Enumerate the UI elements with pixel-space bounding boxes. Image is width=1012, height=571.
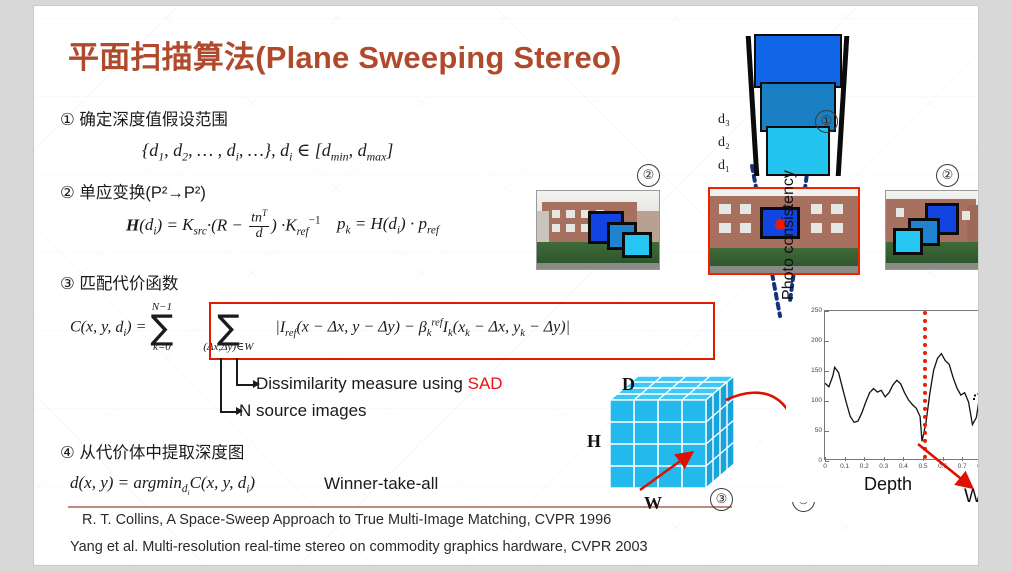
page-title: 平面扫描算法(Plane Sweeping Stereo) xyxy=(68,32,622,77)
depth-label-d1: d₁ xyxy=(718,158,730,174)
plot-axes: 050100150200250 00.10.20.30.40.50.60.70.… xyxy=(824,310,978,460)
patch-plane-1 xyxy=(893,228,922,255)
plot-y-tick: 50 xyxy=(804,427,822,434)
formula-depth-set: {d1, d2, … , di, …}, di ∈ [dmin, dmax] xyxy=(142,140,393,165)
annotation-sad: SAD xyxy=(468,374,503,393)
step-3-label: 匹配代价函数 xyxy=(79,275,178,293)
cost-function-highlight-box xyxy=(209,302,715,360)
window xyxy=(566,210,575,218)
plot-x-tick: 0.1 xyxy=(837,463,853,470)
winner-marker-line xyxy=(923,311,927,459)
step-4-label: 从代价体中提取深度图 xyxy=(79,444,244,462)
walkway xyxy=(886,263,978,269)
plot-y-tick-mark xyxy=(825,401,829,402)
source-image-right xyxy=(885,190,978,270)
cube-axis-depth: D xyxy=(622,374,635,395)
marker-circle-2-left: ② xyxy=(637,164,660,187)
plot-y-tick: 150 xyxy=(804,367,822,374)
step-2-label: 单应变换(P²→P²) xyxy=(79,184,206,202)
marker-circle-2-right: ② xyxy=(936,164,959,187)
plot-x-axis-label: Depth xyxy=(864,474,912,495)
plane-sweep-stack xyxy=(744,34,854,174)
window xyxy=(552,210,561,218)
reference-divider xyxy=(68,506,732,508)
plot-x-tick: 0.3 xyxy=(876,463,892,470)
plot-y-tick: 250 xyxy=(804,307,822,314)
depth-plane-3 xyxy=(754,34,842,88)
plot-y-tick: 200 xyxy=(804,337,822,344)
plot-y-tick-mark xyxy=(825,341,829,342)
step-4-marker: ④ xyxy=(60,444,75,462)
plot-curve xyxy=(825,311,978,459)
window xyxy=(811,223,823,233)
step-4-heading: ④ 从代价体中提取深度图 xyxy=(60,439,244,463)
plot-y-tick-mark xyxy=(825,461,829,462)
formula-homography: H(di) = Ksrc·(R − tnTd) ·Kref−1 xyxy=(126,210,321,243)
plot-x-tick-mark xyxy=(884,457,885,461)
reference-2: Yang et al. Multi-resolution real-time s… xyxy=(70,539,648,555)
window xyxy=(811,204,823,214)
step-1-marker: ① xyxy=(60,111,75,129)
plot-y-tick-mark xyxy=(825,371,829,372)
depth-label-d3: d₃ xyxy=(718,112,730,128)
photo-consistency-plot: Photo consistency Depth 050100150200250 … xyxy=(786,302,978,502)
annotation-winner-take-all: Winner-take-all xyxy=(324,474,438,494)
callout-elbow-sources xyxy=(220,358,239,413)
step-1-label: 确定深度值假设范围 xyxy=(79,111,228,129)
plot-x-tick-mark xyxy=(845,457,846,461)
window xyxy=(962,211,971,220)
plot-x-tick-mark xyxy=(864,457,865,461)
plot-y-tick-mark xyxy=(825,431,829,432)
walkway xyxy=(537,263,659,269)
reference-1: R. T. Collins, A Space-Sweep Approach to… xyxy=(82,512,611,528)
step-3-marker: ③ xyxy=(60,275,75,293)
marker-circle-1: ① xyxy=(815,110,838,133)
slide-canvas: 平面扫描算法(Plane Sweeping Stereo) ① 确定深度值假设范… xyxy=(34,6,978,565)
window xyxy=(552,224,561,232)
window xyxy=(831,223,843,233)
sum-outer: N−1 ∑ k=0 xyxy=(150,302,173,354)
annotation-dissimilarity-text: Dissimilarity measure using xyxy=(256,374,468,393)
window xyxy=(896,208,905,217)
move-cursor xyxy=(973,393,978,419)
plot-x-tick: 0.4 xyxy=(895,463,911,470)
formula-argmin: d(x, y) = argmindiC(x, y, di) xyxy=(70,473,255,498)
step-1-heading: ① 确定深度值假设范围 xyxy=(60,106,228,130)
plot-x-tick: 0.2 xyxy=(856,463,872,470)
window xyxy=(719,204,731,214)
depth-label-d2: d₂ xyxy=(718,135,730,151)
annotation-sources: N source images xyxy=(239,401,367,421)
cube-axis-height: H xyxy=(587,431,601,452)
plot-y-tick: 100 xyxy=(804,397,822,404)
formula-projection: pk = H(di) · pref xyxy=(337,214,439,236)
plot-x-tick-mark xyxy=(903,457,904,461)
window xyxy=(740,223,752,233)
step-3-heading: ③ 匹配代价函数 xyxy=(60,270,178,294)
plot-y-tick-mark xyxy=(825,311,829,312)
plot-x-tick-mark xyxy=(825,457,826,461)
plot-x-tick: 0 xyxy=(817,463,833,470)
step-2-heading: ② 单应变换(P²→P²) xyxy=(60,179,206,203)
cube-pointer-arrow xyxy=(634,446,714,506)
depth-plane-1 xyxy=(766,126,830,176)
source-image-left xyxy=(536,190,660,270)
window xyxy=(740,204,752,214)
plot-y-axis-label: Photo consistency xyxy=(780,160,796,310)
window xyxy=(566,224,575,232)
window xyxy=(831,204,843,214)
slide-viewer: 平面扫描算法(Plane Sweeping Stereo) ① 确定深度值假设范… xyxy=(0,0,1012,571)
annotation-dissimilarity: Dissimilarity measure using SAD xyxy=(256,374,503,394)
window xyxy=(719,223,731,233)
winner-arrow xyxy=(916,442,978,498)
patch-plane-1 xyxy=(622,232,651,259)
step-2-marker: ② xyxy=(60,184,75,202)
